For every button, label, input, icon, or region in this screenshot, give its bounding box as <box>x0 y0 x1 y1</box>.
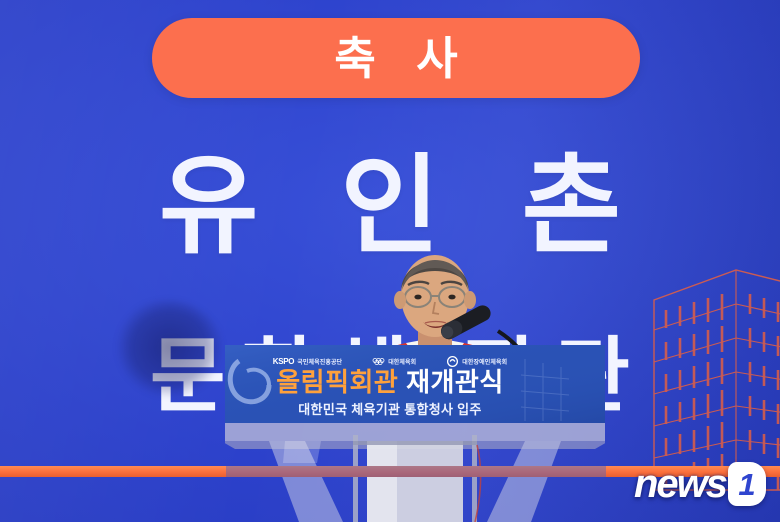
paralympic-logo: 대한장애인체육회 <box>446 354 507 368</box>
watermark-digit: 1 <box>728 462 766 506</box>
sign-title-white: 재개관식 <box>406 367 504 397</box>
paralympic-icon <box>446 355 459 368</box>
news1-watermark: news 1 <box>634 458 766 510</box>
speaker-name-text: 유 인 촌 <box>0 152 780 260</box>
sign-title-orange: 올림픽회관 <box>276 367 398 397</box>
banner-label: 축 사 <box>320 36 471 81</box>
koc-label: 대한체육회 <box>388 357 416 366</box>
screenshot-canvas: 축 사 유 인 촌 문화체 장관 <box>0 0 780 522</box>
floor-stripe-occluded <box>226 466 606 477</box>
watermark-word: news <box>634 464 726 504</box>
podium-sign-subtitle: 대한민국 체육기관 통합청사 입주 <box>0 403 780 416</box>
kpc-label: 대한장애인체육회 <box>462 357 507 366</box>
ceremony-banner: 축 사 <box>152 18 640 98</box>
kspo-wordmark: KSPO <box>273 357 294 366</box>
kspo-logo: KSPO 국민체육진흥공단 <box>273 354 342 368</box>
olympic-rings-logo: 대한체육회 <box>372 354 416 368</box>
kspo-label: 국민체육진흥공단 <box>297 357 342 366</box>
olympic-rings-icon <box>372 355 385 368</box>
podium-sign-title: 올림픽회관 재개관식 <box>0 369 780 395</box>
